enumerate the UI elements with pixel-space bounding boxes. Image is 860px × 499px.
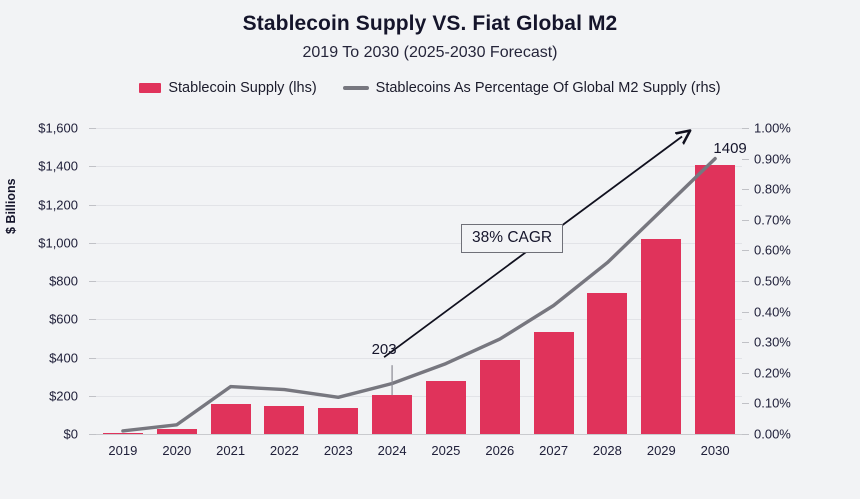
y-axis-tick-label-left: $1,400 <box>38 159 78 174</box>
axis-tick-left <box>89 396 96 397</box>
chart-subtitle: 2019 To 2030 (2025-2030 Forecast) <box>0 44 860 62</box>
axis-tick-right <box>742 128 749 129</box>
legend-label-stablecoin-supply: Stablecoin Supply (lhs) <box>168 80 316 96</box>
y-axis-tick-label-right: 0.00% <box>754 427 791 442</box>
axis-tick-right <box>742 403 749 404</box>
axis-tick-right <box>742 281 749 282</box>
y-axis-tick-label-right: 1.00% <box>754 121 791 136</box>
bar-2019[interactable] <box>103 433 143 434</box>
data-label-2024: 203 <box>372 341 397 358</box>
y-axis-tick-label-left: $1,200 <box>38 197 78 212</box>
axis-tick-left <box>89 128 96 129</box>
y-axis-tick-label-left: $1,000 <box>38 235 78 250</box>
bar-2029[interactable] <box>641 239 681 434</box>
bar-2028[interactable] <box>587 293 627 434</box>
y-axis-tick-label-right: 0.30% <box>754 335 791 350</box>
x-axis-tick-label-2028: 2028 <box>593 443 622 458</box>
gridline <box>96 166 742 167</box>
bar-2026[interactable] <box>480 360 520 434</box>
y-axis-tick-label-right: 0.70% <box>754 212 791 227</box>
axis-tick-right <box>742 220 749 221</box>
data-label-2030: 1409 <box>713 140 746 157</box>
x-axis-tick-label-2021: 2021 <box>216 443 245 458</box>
x-axis-tick-label-2027: 2027 <box>539 443 568 458</box>
plot-area <box>96 128 742 434</box>
y-axis-labels-left: $0$200$400$600$800$1,000$1,200$1,400$1,6… <box>0 128 88 434</box>
gridline <box>96 128 742 129</box>
y-axis-tick-label-right: 0.10% <box>754 396 791 411</box>
cagr-annotation-box: 38% CAGR <box>461 224 563 253</box>
axis-tick-right <box>742 373 749 374</box>
x-axis-tick-label-2019: 2019 <box>108 443 137 458</box>
legend-item-percentage-global-m2[interactable]: Stablecoins As Percentage Of Global M2 S… <box>343 80 721 96</box>
bar-2024[interactable] <box>372 395 412 434</box>
axis-tick-right <box>742 312 749 313</box>
axis-tick-left <box>89 205 96 206</box>
bar-2027[interactable] <box>534 332 574 434</box>
axis-tick-right <box>742 250 749 251</box>
axis-tick-left <box>89 319 96 320</box>
x-axis-tick-label-2020: 2020 <box>162 443 191 458</box>
legend-label-percentage-global-m2: Stablecoins As Percentage Of Global M2 S… <box>376 80 721 96</box>
x-axis-tick-label-2030: 2030 <box>701 443 730 458</box>
x-axis-tick-label-2025: 2025 <box>431 443 460 458</box>
gridline <box>96 205 742 206</box>
axis-tick-left <box>89 434 96 435</box>
x-axis-tick-label-2023: 2023 <box>324 443 353 458</box>
y-axis-tick-label-left: $800 <box>49 274 78 289</box>
bar-2021[interactable] <box>211 404 251 434</box>
y-axis-tick-label-left: $200 <box>49 388 78 403</box>
x-axis-tick-label-2024: 2024 <box>378 443 407 458</box>
gridline <box>96 434 742 435</box>
y-axis-tick-label-right: 0.40% <box>754 304 791 319</box>
legend-item-stablecoin-supply[interactable]: Stablecoin Supply (lhs) <box>139 80 316 96</box>
y-axis-tick-label-left: $0 <box>64 427 78 442</box>
axis-tick-right <box>742 189 749 190</box>
axis-tick-left <box>89 243 96 244</box>
x-axis-labels: 2019202020212022202320242025202620272028… <box>96 443 742 467</box>
bar-2025[interactable] <box>426 381 466 435</box>
x-axis-tick-label-2029: 2029 <box>647 443 676 458</box>
y-axis-tick-label-left: $1,600 <box>38 121 78 136</box>
y-axis-tick-label-left: $400 <box>49 350 78 365</box>
chart-container: Stablecoin Supply VS. Fiat Global M2 201… <box>0 0 860 499</box>
axis-tick-left <box>89 281 96 282</box>
y-axis-labels-right: 0.00%0.10%0.20%0.30%0.40%0.50%0.60%0.70%… <box>750 128 850 434</box>
y-axis-tick-label-right: 0.60% <box>754 243 791 258</box>
axis-tick-right <box>742 434 749 435</box>
y-axis-tick-label-right: 0.90% <box>754 151 791 166</box>
axis-tick-right <box>742 159 749 160</box>
bar-2023[interactable] <box>318 408 358 434</box>
x-axis-tick-label-2026: 2026 <box>485 443 514 458</box>
bar-2020[interactable] <box>157 429 197 434</box>
x-axis-tick-label-2022: 2022 <box>270 443 299 458</box>
axis-tick-left <box>89 166 96 167</box>
bar-2022[interactable] <box>264 406 304 434</box>
axis-tick-right <box>742 342 749 343</box>
axis-tick-left <box>89 358 96 359</box>
y-axis-tick-label-left: $600 <box>49 312 78 327</box>
legend-line-swatch-icon <box>343 86 369 90</box>
chart-title: Stablecoin Supply VS. Fiat Global M2 <box>0 12 860 36</box>
legend-bar-swatch-icon <box>139 83 161 93</box>
chart-legend: Stablecoin Supply (lhs) Stablecoins As P… <box>0 80 860 96</box>
y-axis-tick-label-right: 0.80% <box>754 182 791 197</box>
y-axis-tick-label-right: 0.50% <box>754 274 791 289</box>
y-axis-tick-label-right: 0.20% <box>754 365 791 380</box>
bar-2030[interactable] <box>695 165 735 435</box>
